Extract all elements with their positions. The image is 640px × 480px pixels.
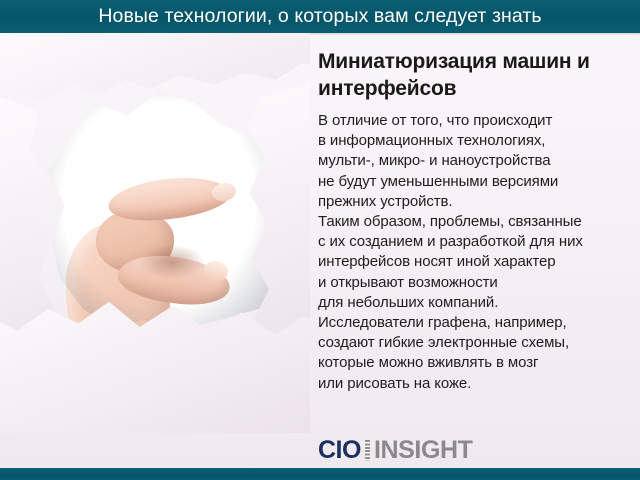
slide-root: Новые технологии, о которых вам следует … [0,0,640,480]
hand-pinch-gap-shadow [140,245,204,279]
logo-secondary-text: INSIGHT [374,438,473,462]
logo-divider [365,440,370,461]
cio-insight-logo: CIO INSIGHT [318,438,473,462]
hand-index-finger [106,172,232,227]
logo-primary-text: CIO [318,438,361,462]
header-title: Новые технологии, о которых вам следует … [0,0,640,33]
footer-bar [0,468,640,480]
torn-paper-artwork [0,33,310,433]
body-paragraph: В отличие от того, что происходит в инфо… [318,111,626,394]
content-column: Миниатюризация машин и интерфейсов В отл… [318,48,626,394]
body-copy: В отличие от того, что происходит в инфо… [318,111,626,394]
headline: Миниатюризация машин и интерфейсов [318,48,626,102]
